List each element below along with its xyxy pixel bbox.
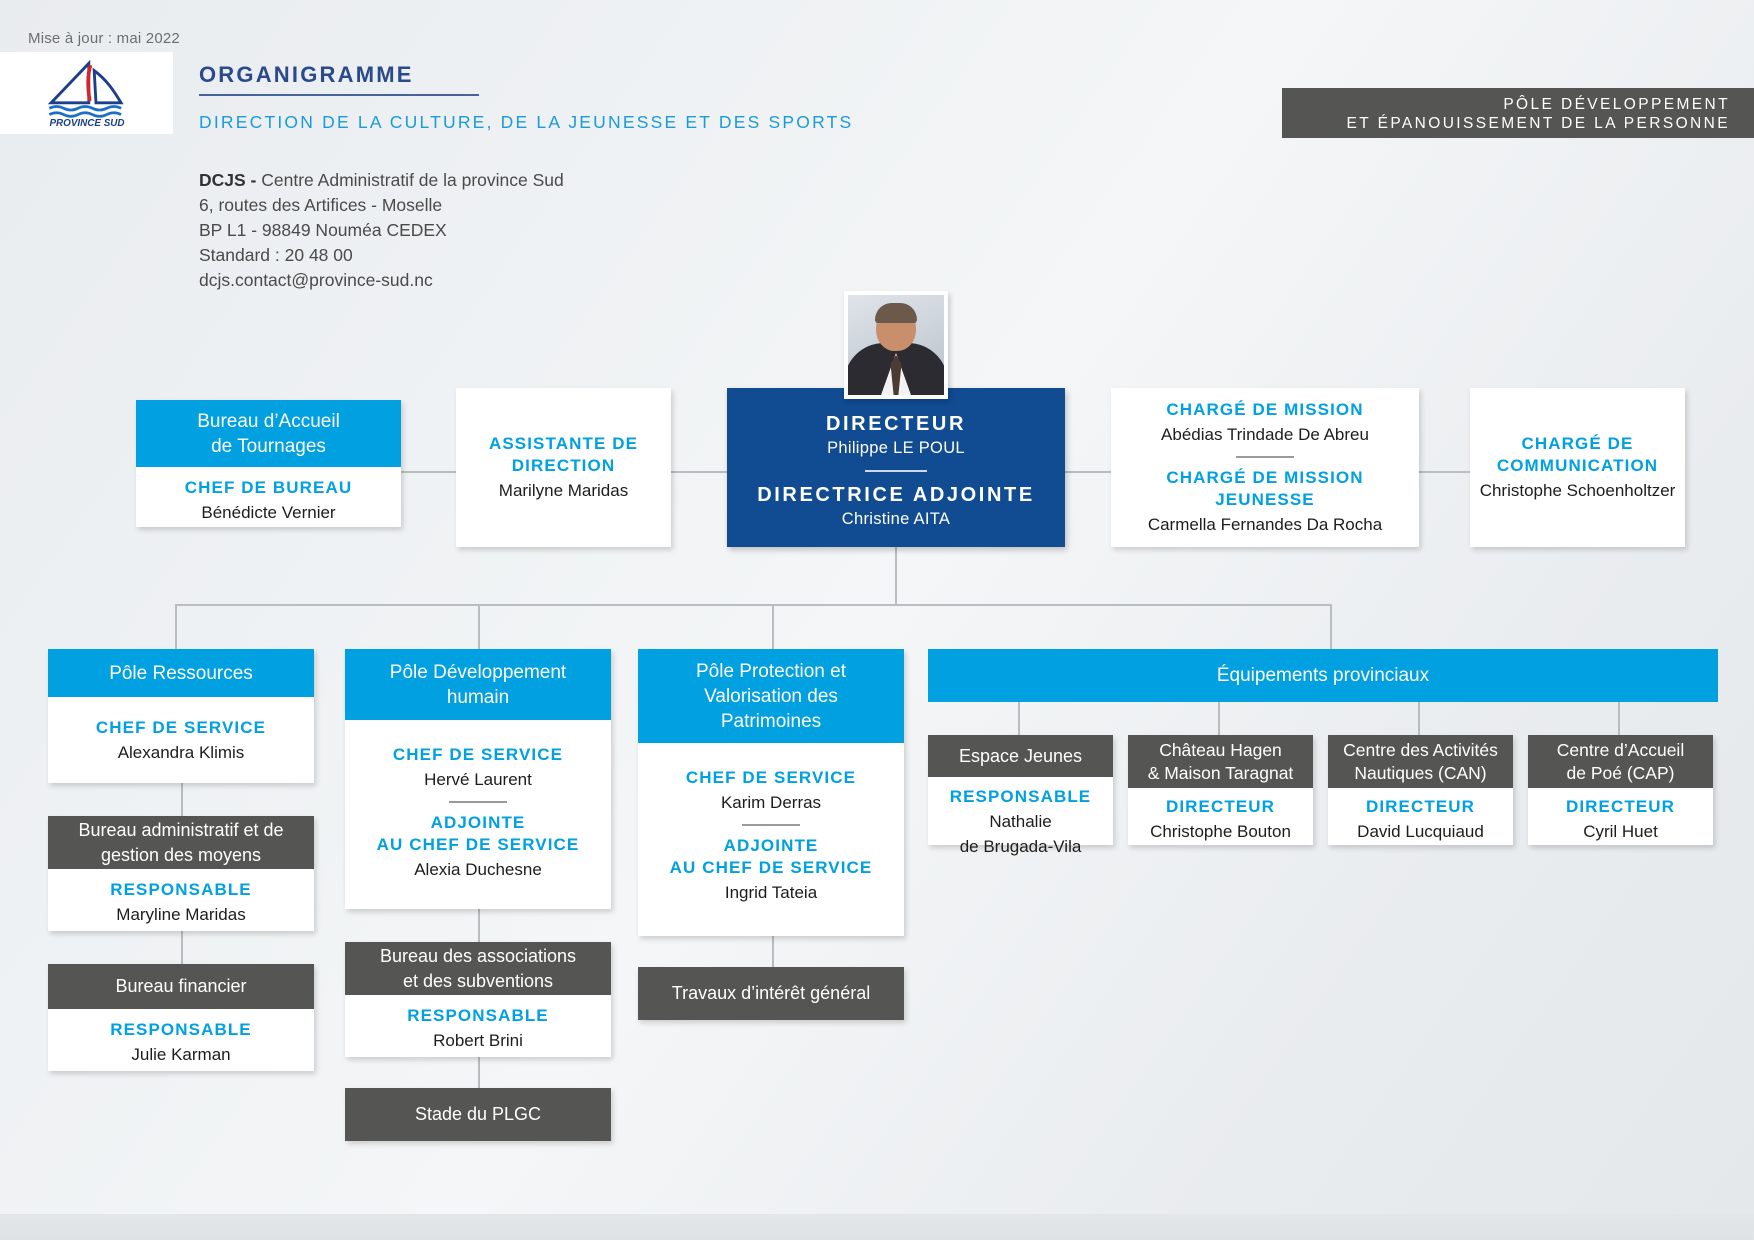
- pole-protection-header-line-2: Valorisation des: [704, 684, 838, 709]
- bureau-associations-name: Robert Brini: [353, 1029, 603, 1052]
- director-name: Philippe LE POUL: [727, 439, 1065, 458]
- centre-accueil-poe-role: DIRECTEUR: [1536, 796, 1705, 818]
- espace-jeunes-role: RESPONSABLE: [936, 786, 1105, 808]
- pole-banner-line-2: ET ÉPANOUISSEMENT DE LA PERSONNE: [1282, 114, 1730, 133]
- bureau-accueil-header: Bureau d’Accueil de Tournages: [136, 400, 401, 467]
- stade-du-plgc-header: Stade du PLGC: [345, 1088, 611, 1141]
- pole-developpement-humain-body: CHEF DE SERVICE Hervé Laurent ADJOINTE A…: [345, 720, 611, 909]
- equipements-provinciaux-title: Équipements provinciaux: [928, 649, 1718, 702]
- director-separator: [865, 470, 927, 472]
- charge-communication-name: Christophe Schoenholtzer: [1480, 479, 1676, 502]
- connector-col3-child1: [772, 936, 774, 967]
- bureau-financier-body: RESPONSABLE Julie Karman: [48, 1009, 314, 1071]
- espace-jeunes-name-line-2: de Brugada-Vila: [936, 835, 1105, 858]
- bureau-financier-card[interactable]: Bureau financier RESPONSABLE Julie Karma…: [48, 964, 314, 1071]
- travaux-interet-general-header: Travaux d’intérêt général: [638, 967, 904, 1020]
- bureau-associations-role: RESPONSABLE: [353, 1005, 603, 1027]
- director-photo: [844, 291, 948, 399]
- pole-ressources-card[interactable]: Pôle Ressources CHEF DE SERVICE Alexandr…: [48, 649, 314, 783]
- contact-line-4: Standard : 20 48 00: [199, 243, 564, 268]
- contact-line-3: BP L1 - 98849 Nouméa CEDEX: [199, 218, 564, 243]
- assistante-direction-body: ASSISTANTE DE DIRECTION Marilyne Maridas: [489, 433, 638, 502]
- connector-col2-child1: [478, 909, 480, 943]
- director-title: DIRECTEUR: [727, 413, 1065, 436]
- centre-activites-nautiques-role: DIRECTEUR: [1336, 796, 1505, 818]
- director-card[interactable]: DIRECTEUR Philippe LE POUL DIRECTRICE AD…: [727, 388, 1065, 547]
- centre-accueil-poe-body: DIRECTEUR Cyril Huet: [1528, 788, 1713, 845]
- pole-ressources-name: Alexandra Klimis: [56, 741, 306, 764]
- bureau-associations-header-line-1: Bureau des associations: [380, 944, 576, 969]
- centre-activites-nautiques-header: Centre des Activités Nautiques (CAN): [1328, 735, 1513, 788]
- connector-equip-4: [1618, 702, 1620, 735]
- charge-communication-role-line-1: CHARGÉ DE: [1480, 433, 1676, 455]
- chateau-hagen-header-line-1: Château Hagen: [1159, 739, 1282, 762]
- connector-equip-2: [1218, 702, 1220, 735]
- bureau-accueil-header-line-1: Bureau d’Accueil: [197, 409, 340, 434]
- pole-banner: PÔLE DÉVELOPPEMENT ET ÉPANOUISSEMENT DE …: [1282, 88, 1754, 138]
- pole-developpement-humain-header-line-2: humain: [447, 685, 509, 710]
- centre-activites-nautiques-body: DIRECTEUR David Lucquiaud: [1328, 788, 1513, 845]
- centre-accueil-poe-header: Centre d’Accueil de Poé (CAP): [1528, 735, 1713, 788]
- header-title-block: ORGANIGRAMME DIRECTION DE LA CULTURE, DE…: [199, 62, 853, 133]
- pole-ressources-body: CHEF DE SERVICE Alexandra Klimis: [48, 697, 314, 783]
- page-subtitle: DIRECTION DE LA CULTURE, DE LA JEUNESSE …: [199, 112, 853, 133]
- connector-drop-col3: [772, 604, 774, 649]
- title-underline: [199, 94, 479, 96]
- bureau-associations-card[interactable]: Bureau des associations et des subventio…: [345, 942, 611, 1057]
- bureau-associations-header-line-2: et des subventions: [403, 969, 553, 994]
- centre-activites-nautiques-header-line-2: Nautiques (CAN): [1354, 762, 1486, 785]
- pole-developpement-humain-adjointe-name: Alexia Duchesne: [353, 858, 603, 881]
- connector-drop-equipements: [1330, 604, 1332, 649]
- bureau-accueil-role: CHEF DE BUREAU: [144, 477, 393, 499]
- charge-mission-jeunesse-name: Carmella Fernandes Da Rocha: [1148, 513, 1382, 536]
- pole-protection-header: Pôle Protection et Valorisation des Patr…: [638, 649, 904, 743]
- chateau-hagen-header: Château Hagen & Maison Taragnat: [1128, 735, 1313, 788]
- bureau-administratif-body: RESPONSABLE Maryline Maridas: [48, 869, 314, 931]
- centre-activites-nautiques-header-line-1: Centre des Activités: [1343, 739, 1498, 762]
- centre-activites-nautiques-card[interactable]: Centre des Activités Nautiques (CAN) DIR…: [1328, 735, 1513, 845]
- pole-ressources-header: Pôle Ressources: [48, 649, 314, 697]
- charge-mission-card[interactable]: CHARGÉ DE MISSION Abédias Trindade De Ab…: [1111, 388, 1419, 547]
- centre-accueil-poe-header-line-1: Centre d’Accueil: [1557, 739, 1684, 762]
- pole-developpement-humain-adjointe-role-line-1: ADJOINTE: [353, 812, 603, 834]
- stade-du-plgc-card[interactable]: Stade du PLGC: [345, 1088, 611, 1141]
- assistante-direction-role-line-1: ASSISTANTE DE: [489, 433, 638, 455]
- connector-director-down: [895, 547, 897, 604]
- bureau-administratif-card[interactable]: Bureau administratif et de gestion des m…: [48, 816, 314, 931]
- sailboat-logo-icon: PROVINCE SUD: [33, 58, 141, 128]
- page-title: ORGANIGRAMME: [199, 62, 853, 88]
- chateau-hagen-card[interactable]: Château Hagen & Maison Taragnat DIRECTEU…: [1128, 735, 1313, 845]
- charge-mission-body: CHARGÉ DE MISSION Abédias Trindade De Ab…: [1148, 399, 1382, 536]
- bureau-administratif-header-line-1: Bureau administratif et de: [78, 818, 283, 843]
- connector-equip-3: [1418, 702, 1420, 735]
- bureau-accueil-header-line-2: de Tournages: [211, 434, 326, 459]
- espace-jeunes-card[interactable]: Espace Jeunes RESPONSABLE Nathalie de Br…: [928, 735, 1113, 845]
- charge-communication-card[interactable]: CHARGÉ DE COMMUNICATION Christophe Schoe…: [1470, 388, 1685, 547]
- bureau-accueil-body: CHEF DE BUREAU Bénédicte Vernier: [136, 467, 401, 527]
- centre-accueil-poe-card[interactable]: Centre d’Accueil de Poé (CAP) DIRECTEUR …: [1528, 735, 1713, 845]
- assistante-direction-card[interactable]: ASSISTANTE DE DIRECTION Marilyne Maridas: [456, 388, 671, 547]
- pole-developpement-humain-role: CHEF DE SERVICE: [353, 744, 603, 766]
- charge-communication-body: CHARGÉ DE COMMUNICATION Christophe Schoe…: [1480, 433, 1676, 502]
- centre-accueil-poe-name: Cyril Huet: [1536, 820, 1705, 843]
- charge-mission-jeunesse-role-line-2: JEUNESSE: [1148, 489, 1382, 511]
- bureau-accueil-tournages-card[interactable]: Bureau d’Accueil de Tournages CHEF DE BU…: [136, 400, 401, 527]
- footer-strip: [0, 1214, 1754, 1240]
- pole-developpement-humain-separator: [449, 801, 507, 803]
- pole-developpement-humain-card[interactable]: Pôle Développement humain CHEF DE SERVIC…: [345, 649, 611, 909]
- espace-jeunes-name-line-1: Nathalie: [936, 810, 1105, 833]
- chateau-hagen-body: DIRECTEUR Christophe Bouton: [1128, 788, 1313, 845]
- charge-mission-name: Abédias Trindade De Abreu: [1148, 423, 1382, 446]
- chateau-hagen-role: DIRECTEUR: [1136, 796, 1305, 818]
- pole-protection-body: CHEF DE SERVICE Karim Derras ADJOINTE AU…: [638, 743, 904, 936]
- pole-protection-header-line-1: Pôle Protection et: [696, 659, 846, 684]
- centre-activites-nautiques-name: David Lucquiaud: [1336, 820, 1505, 843]
- bureau-accueil-name: Bénédicte Vernier: [144, 501, 393, 524]
- deputy-director-title: DIRECTRICE ADJOINTE: [727, 484, 1065, 507]
- pole-protection-card[interactable]: Pôle Protection et Valorisation des Patr…: [638, 649, 904, 936]
- pole-protection-header-line-3: Patrimoines: [721, 709, 821, 734]
- charge-mission-jeunesse-role-line-1: CHARGÉ DE MISSION: [1148, 467, 1382, 489]
- connector-drop-col1: [175, 604, 177, 649]
- assistante-direction-name: Marilyne Maridas: [489, 479, 638, 502]
- charge-mission-role: CHARGÉ DE MISSION: [1148, 399, 1382, 421]
- bureau-associations-body: RESPONSABLE Robert Brini: [345, 995, 611, 1057]
- connector-main-bus: [175, 604, 1330, 606]
- espace-jeunes-header: Espace Jeunes: [928, 735, 1113, 777]
- bureau-associations-header: Bureau des associations et des subventio…: [345, 942, 611, 995]
- contact-block: DCJS - Centre Administratif de la provin…: [199, 168, 564, 293]
- last-update-label: Mise à jour : mai 2022: [28, 30, 180, 47]
- svg-text:PROVINCE SUD: PROVINCE SUD: [49, 118, 124, 128]
- charge-communication-role-line-2: COMMUNICATION: [1480, 455, 1676, 477]
- chateau-hagen-name: Christophe Bouton: [1136, 820, 1305, 843]
- equipements-provinciaux-header-bar: Équipements provinciaux: [928, 649, 1718, 702]
- pole-protection-separator: [742, 824, 800, 826]
- pole-developpement-humain-adjointe-role-line-2: AU CHEF DE SERVICE: [353, 834, 603, 856]
- pole-protection-adjointe-role-line-2: AU CHEF DE SERVICE: [646, 857, 896, 879]
- travaux-interet-general-card[interactable]: Travaux d’intérêt général: [638, 967, 904, 1020]
- contact-line-1: DCJS - Centre Administratif de la provin…: [199, 168, 564, 193]
- deputy-director-name: Christine AITA: [727, 510, 1065, 529]
- bureau-financier-name: Julie Karman: [56, 1043, 306, 1066]
- charge-mission-separator: [1236, 456, 1294, 458]
- pole-ressources-role: CHEF DE SERVICE: [56, 717, 306, 739]
- pole-protection-adjointe-name: Ingrid Tateia: [646, 881, 896, 904]
- espace-jeunes-body: RESPONSABLE Nathalie de Brugada-Vila: [928, 777, 1113, 845]
- pole-developpement-humain-header-line-1: Pôle Développement: [390, 660, 566, 685]
- province-sud-logo: PROVINCE SUD: [0, 52, 173, 134]
- pole-protection-role: CHEF DE SERVICE: [646, 767, 896, 789]
- connector-drop-col2: [478, 604, 480, 649]
- pole-protection-adjointe-role-line-1: ADJOINTE: [646, 835, 896, 857]
- pole-developpement-humain-name: Hervé Laurent: [353, 768, 603, 791]
- bureau-administratif-header-line-2: gestion des moyens: [101, 843, 261, 868]
- director-photo-image: [848, 295, 944, 395]
- bureau-administratif-name: Maryline Maridas: [56, 903, 306, 926]
- pole-developpement-humain-header: Pôle Développement humain: [345, 649, 611, 720]
- centre-accueil-poe-header-line-2: de Poé (CAP): [1567, 762, 1675, 785]
- bureau-administratif-header: Bureau administratif et de gestion des m…: [48, 816, 314, 869]
- bureau-financier-role: RESPONSABLE: [56, 1019, 306, 1041]
- assistante-direction-role-line-2: DIRECTION: [489, 455, 638, 477]
- pole-banner-line-1: PÔLE DÉVELOPPEMENT: [1282, 95, 1730, 114]
- chateau-hagen-header-line-2: & Maison Taragnat: [1148, 762, 1294, 785]
- bureau-administratif-role: RESPONSABLE: [56, 879, 306, 901]
- contact-email: dcjs.contact@province-sud.nc: [199, 268, 564, 293]
- connector-equip-1: [1018, 702, 1020, 735]
- contact-line-2: 6, routes des Artifices - Moselle: [199, 193, 564, 218]
- bureau-financier-header: Bureau financier: [48, 964, 314, 1009]
- pole-protection-name: Karim Derras: [646, 791, 896, 814]
